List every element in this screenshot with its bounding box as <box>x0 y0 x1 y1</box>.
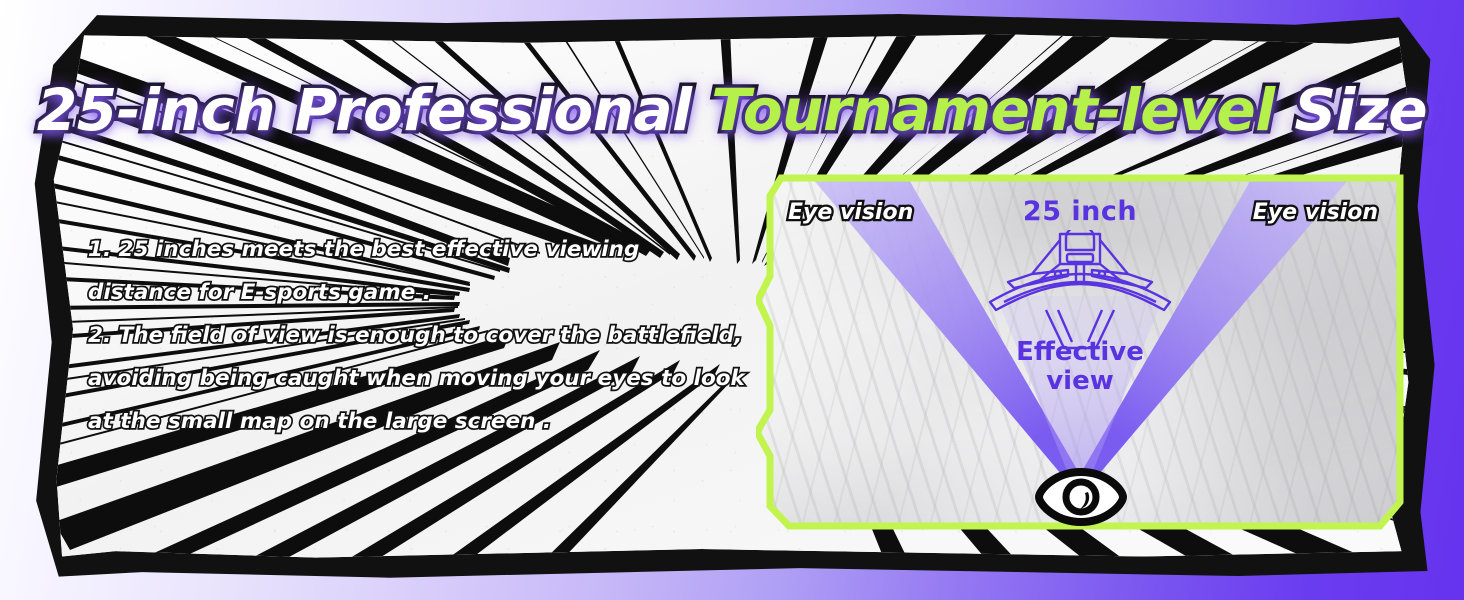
feature-line-4: avoiding being caught when moving your e… <box>88 357 768 400</box>
feature-line-1: 1. 25 inches meets the best effective vi… <box>88 228 768 271</box>
promo-banner: 25-inch Professional Tournament-level Si… <box>0 0 1464 600</box>
feature-line-2: distance for E-sports game . <box>88 271 768 314</box>
banner-title: 25-inch Professional Tournament-level Si… <box>0 76 1464 144</box>
label-effective-view: Effective view <box>760 338 1400 396</box>
feature-line-5: at the small map on the large screen . <box>88 400 768 443</box>
title-highlight: Tournament-level <box>711 76 1274 144</box>
title-part-one: 25-inch Professional <box>37 76 711 144</box>
label-effective-view-line1: Effective <box>760 338 1400 367</box>
label-screen-size: 25 inch <box>760 196 1400 227</box>
label-effective-view-line2: view <box>760 367 1400 396</box>
monitor-topdown-icon <box>988 230 1172 350</box>
viewing-angle-diagram: Eye vision Eye vision 25 inch <box>760 178 1400 526</box>
title-part-two: Size <box>1275 76 1427 144</box>
feature-list: 1. 25 inches meets the best effective vi… <box>88 228 768 443</box>
feature-line-3: 2. The field of view is enough to cover … <box>88 314 768 357</box>
eye-icon <box>1035 466 1127 528</box>
